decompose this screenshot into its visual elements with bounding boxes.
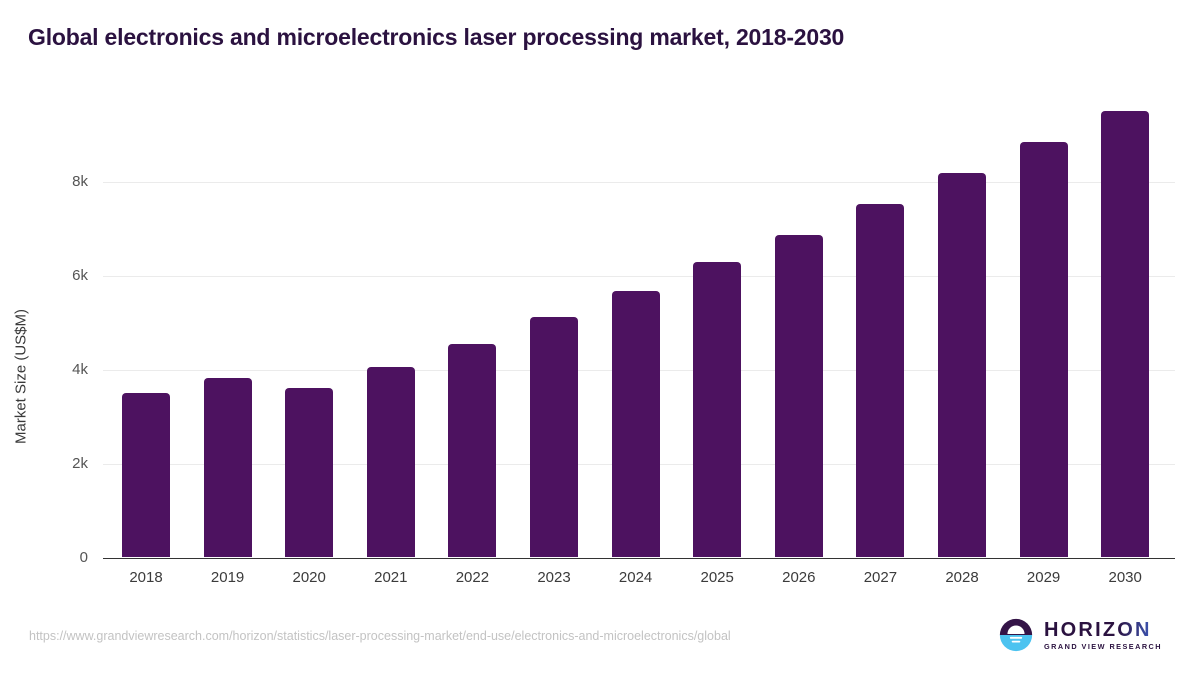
chart-plot-area: Market Size (US$M) 02k4k6k8k 20182019202… <box>0 0 1200 675</box>
bar[interactable] <box>285 388 333 557</box>
x-axis-tick-label: 2030 <box>1109 569 1142 586</box>
bar[interactable] <box>448 344 496 558</box>
x-axis-tick-label: 2028 <box>945 569 978 586</box>
bar[interactable] <box>693 262 741 557</box>
x-axis-tick-label: 2027 <box>864 569 897 586</box>
x-axis-tick-label: 2019 <box>211 569 244 586</box>
x-axis-tick-label: 2020 <box>293 569 326 586</box>
bar[interactable] <box>1101 111 1149 557</box>
x-axis-tick-label: 2026 <box>782 569 815 586</box>
source-url[interactable]: https://www.grandviewresearch.com/horizo… <box>29 629 731 643</box>
x-axis-tick-label: 2018 <box>129 569 162 586</box>
bar[interactable] <box>612 291 660 558</box>
bar[interactable] <box>122 393 170 557</box>
bar[interactable] <box>367 367 415 558</box>
bar[interactable] <box>856 204 904 558</box>
logo-name: HORIZON <box>1044 620 1162 640</box>
bar[interactable] <box>1020 142 1068 558</box>
horizon-logo-icon <box>997 616 1035 654</box>
chart-page: Global electronics and microelectronics … <box>0 0 1200 675</box>
bar[interactable] <box>775 235 823 558</box>
horizon-logo[interactable]: HORIZON GRAND VIEW RESEARCH <box>997 616 1162 654</box>
logo-subtitle: GRAND VIEW RESEARCH <box>1044 643 1162 650</box>
bar-series <box>0 0 1200 675</box>
logo-text-block: HORIZON GRAND VIEW RESEARCH <box>1044 620 1162 650</box>
x-axis-tick-label: 2023 <box>537 569 570 586</box>
x-axis-tick-label: 2022 <box>456 569 489 586</box>
bar[interactable] <box>530 317 578 557</box>
bar[interactable] <box>938 173 986 558</box>
x-axis-tick-label: 2021 <box>374 569 407 586</box>
x-axis-tick-label: 2029 <box>1027 569 1060 586</box>
bar[interactable] <box>204 378 252 557</box>
x-axis-tick-label: 2025 <box>701 569 734 586</box>
x-axis-tick-label: 2024 <box>619 569 652 586</box>
